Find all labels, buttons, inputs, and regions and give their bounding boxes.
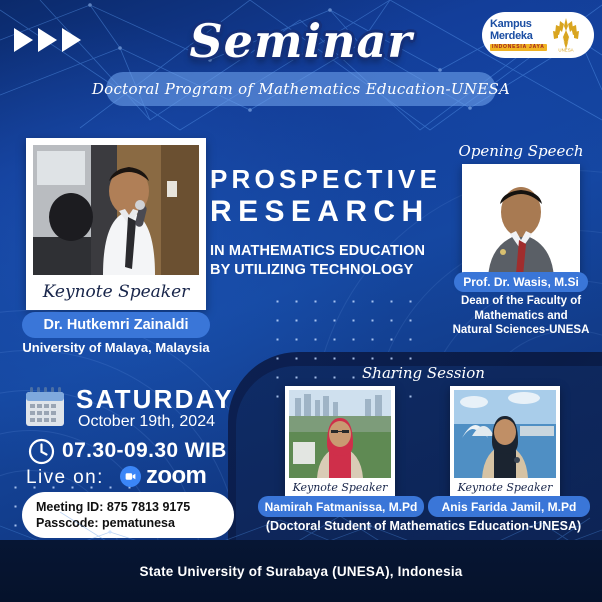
event-date: October 19th, 2024 <box>78 414 215 430</box>
sharing-session-label: Sharing Session <box>245 364 602 382</box>
sharing-speaker-2-photo <box>454 390 556 478</box>
unesa-garuda-icon: UNESA <box>551 17 581 53</box>
headline-line-2: RESEARCH <box>210 195 460 229</box>
headline-line-1: PROSPECTIVE <box>210 165 460 193</box>
poster-footer: State University of Surabaya (UNESA), In… <box>0 540 602 602</box>
event-day: SATURDAY <box>76 386 234 412</box>
footer-text: State University of Surabaya (UNESA), In… <box>140 564 463 579</box>
logo-tagline: INDONESIA JAYA <box>490 44 547 51</box>
headline-sub-2: BY UTILIZING TECHNOLOGY <box>210 261 460 279</box>
opening-speech-role-line-1: Dean of the Faculty of <box>440 294 602 309</box>
keynote-speaker-name-badge: Dr. Hutkemri Zainaldi <box>22 312 210 338</box>
sharing-speaker-1-photo <box>289 390 391 478</box>
zoom-wordmark: zoom <box>146 464 206 488</box>
seminar-poster: Seminar Doctoral Program of Mathematics … <box>0 0 602 602</box>
opening-speech-label: Opening Speech <box>440 142 602 160</box>
opening-speech-name-badge: Prof. Dr. Wasis, M.Si <box>454 272 588 292</box>
keynote-photo-caption: Keynote Speaker <box>33 275 199 309</box>
opening-speech-role: Dean of the Faculty of Mathematics and N… <box>440 294 602 338</box>
logo-wordmark: Kampus Merdeka INDONESIA JAYA <box>490 19 547 51</box>
keynote-speaker-photo-card: Keynote Speaker <box>26 138 206 310</box>
logo-line-2: Merdeka <box>490 31 547 42</box>
subtitle-text: Doctoral Program of Mathematics Educatio… <box>92 80 510 98</box>
zoom-logo: zoom <box>120 464 206 488</box>
event-time: 07.30-09.30 WIB <box>62 440 227 461</box>
logo-line-1: Kampus <box>490 19 547 30</box>
keynote-speaker-photo <box>33 145 199 275</box>
zoom-camera-icon <box>120 466 141 487</box>
sharing-speaker-1-photo-card: Keynote Speaker <box>285 386 395 498</box>
sharing-speaker-2-photo-card: Keynote Speaker <box>450 386 560 498</box>
keynote-speaker-affiliation: University of Malaya, Malaysia <box>0 340 232 355</box>
sharing-speaker-2-caption: Keynote Speaker <box>454 478 556 498</box>
clock-icon <box>28 438 55 465</box>
opening-speech-photo <box>466 168 576 278</box>
calendar-icon <box>24 386 66 428</box>
headline-sub-1: IN MATHEMATICS EDUCATION <box>210 242 460 260</box>
svg-text:UNESA: UNESA <box>558 48 573 53</box>
main-headline: PROSPECTIVE RESEARCH IN MATHEMATICS EDUC… <box>210 165 460 279</box>
kampus-merdeka-logo: Kampus Merdeka INDONESIA JAYA UNESA <box>482 12 594 58</box>
sharing-speaker-1-caption: Keynote Speaker <box>289 478 391 498</box>
opening-speech-role-line-3: Natural Sciences-UNESA <box>440 323 602 338</box>
opening-speech-role-line-2: Mathematics and <box>440 309 602 324</box>
opening-speech-name: Prof. Dr. Wasis, M.Si <box>463 275 579 289</box>
opening-speech-photo-card <box>462 164 580 282</box>
live-on-label: Live on: <box>26 468 104 487</box>
keynote-speaker-name: Dr. Hutkemri Zainaldi <box>43 317 188 333</box>
subtitle-banner: Doctoral Program of Mathematics Educatio… <box>106 72 496 106</box>
